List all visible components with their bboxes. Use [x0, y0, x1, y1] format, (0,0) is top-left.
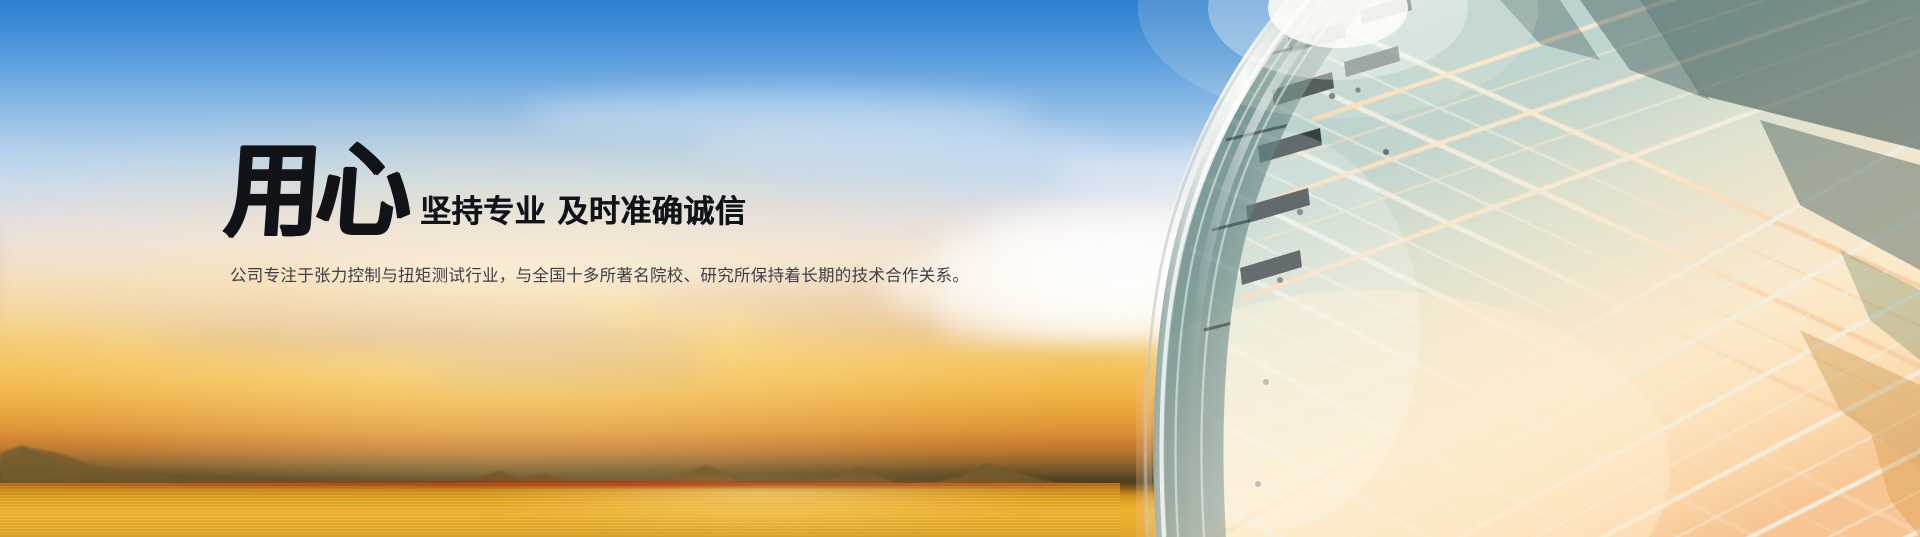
hero-text-block: 用心 坚持专业 及时准确诚信 公司专注于张力控制与扭矩测试行业，与全国十多所著名… — [222, 140, 922, 286]
hero-banner: 用心 坚持专业 及时准确诚信 公司专注于张力控制与扭矩测试行业，与全国十多所著名… — [0, 0, 1920, 537]
company-description: 公司专注于张力控制与扭矩测试行业，与全国十多所著名院校、研究所保持着长期的技术合… — [230, 262, 922, 286]
brand-calligraphy: 用心 — [222, 143, 411, 240]
headline-row: 用心 坚持专业 及时准确诚信 — [222, 140, 922, 240]
brand-slogan: 坚持专业 及时准确诚信 — [420, 186, 746, 240]
glass-skyscraper — [940, 0, 1920, 537]
